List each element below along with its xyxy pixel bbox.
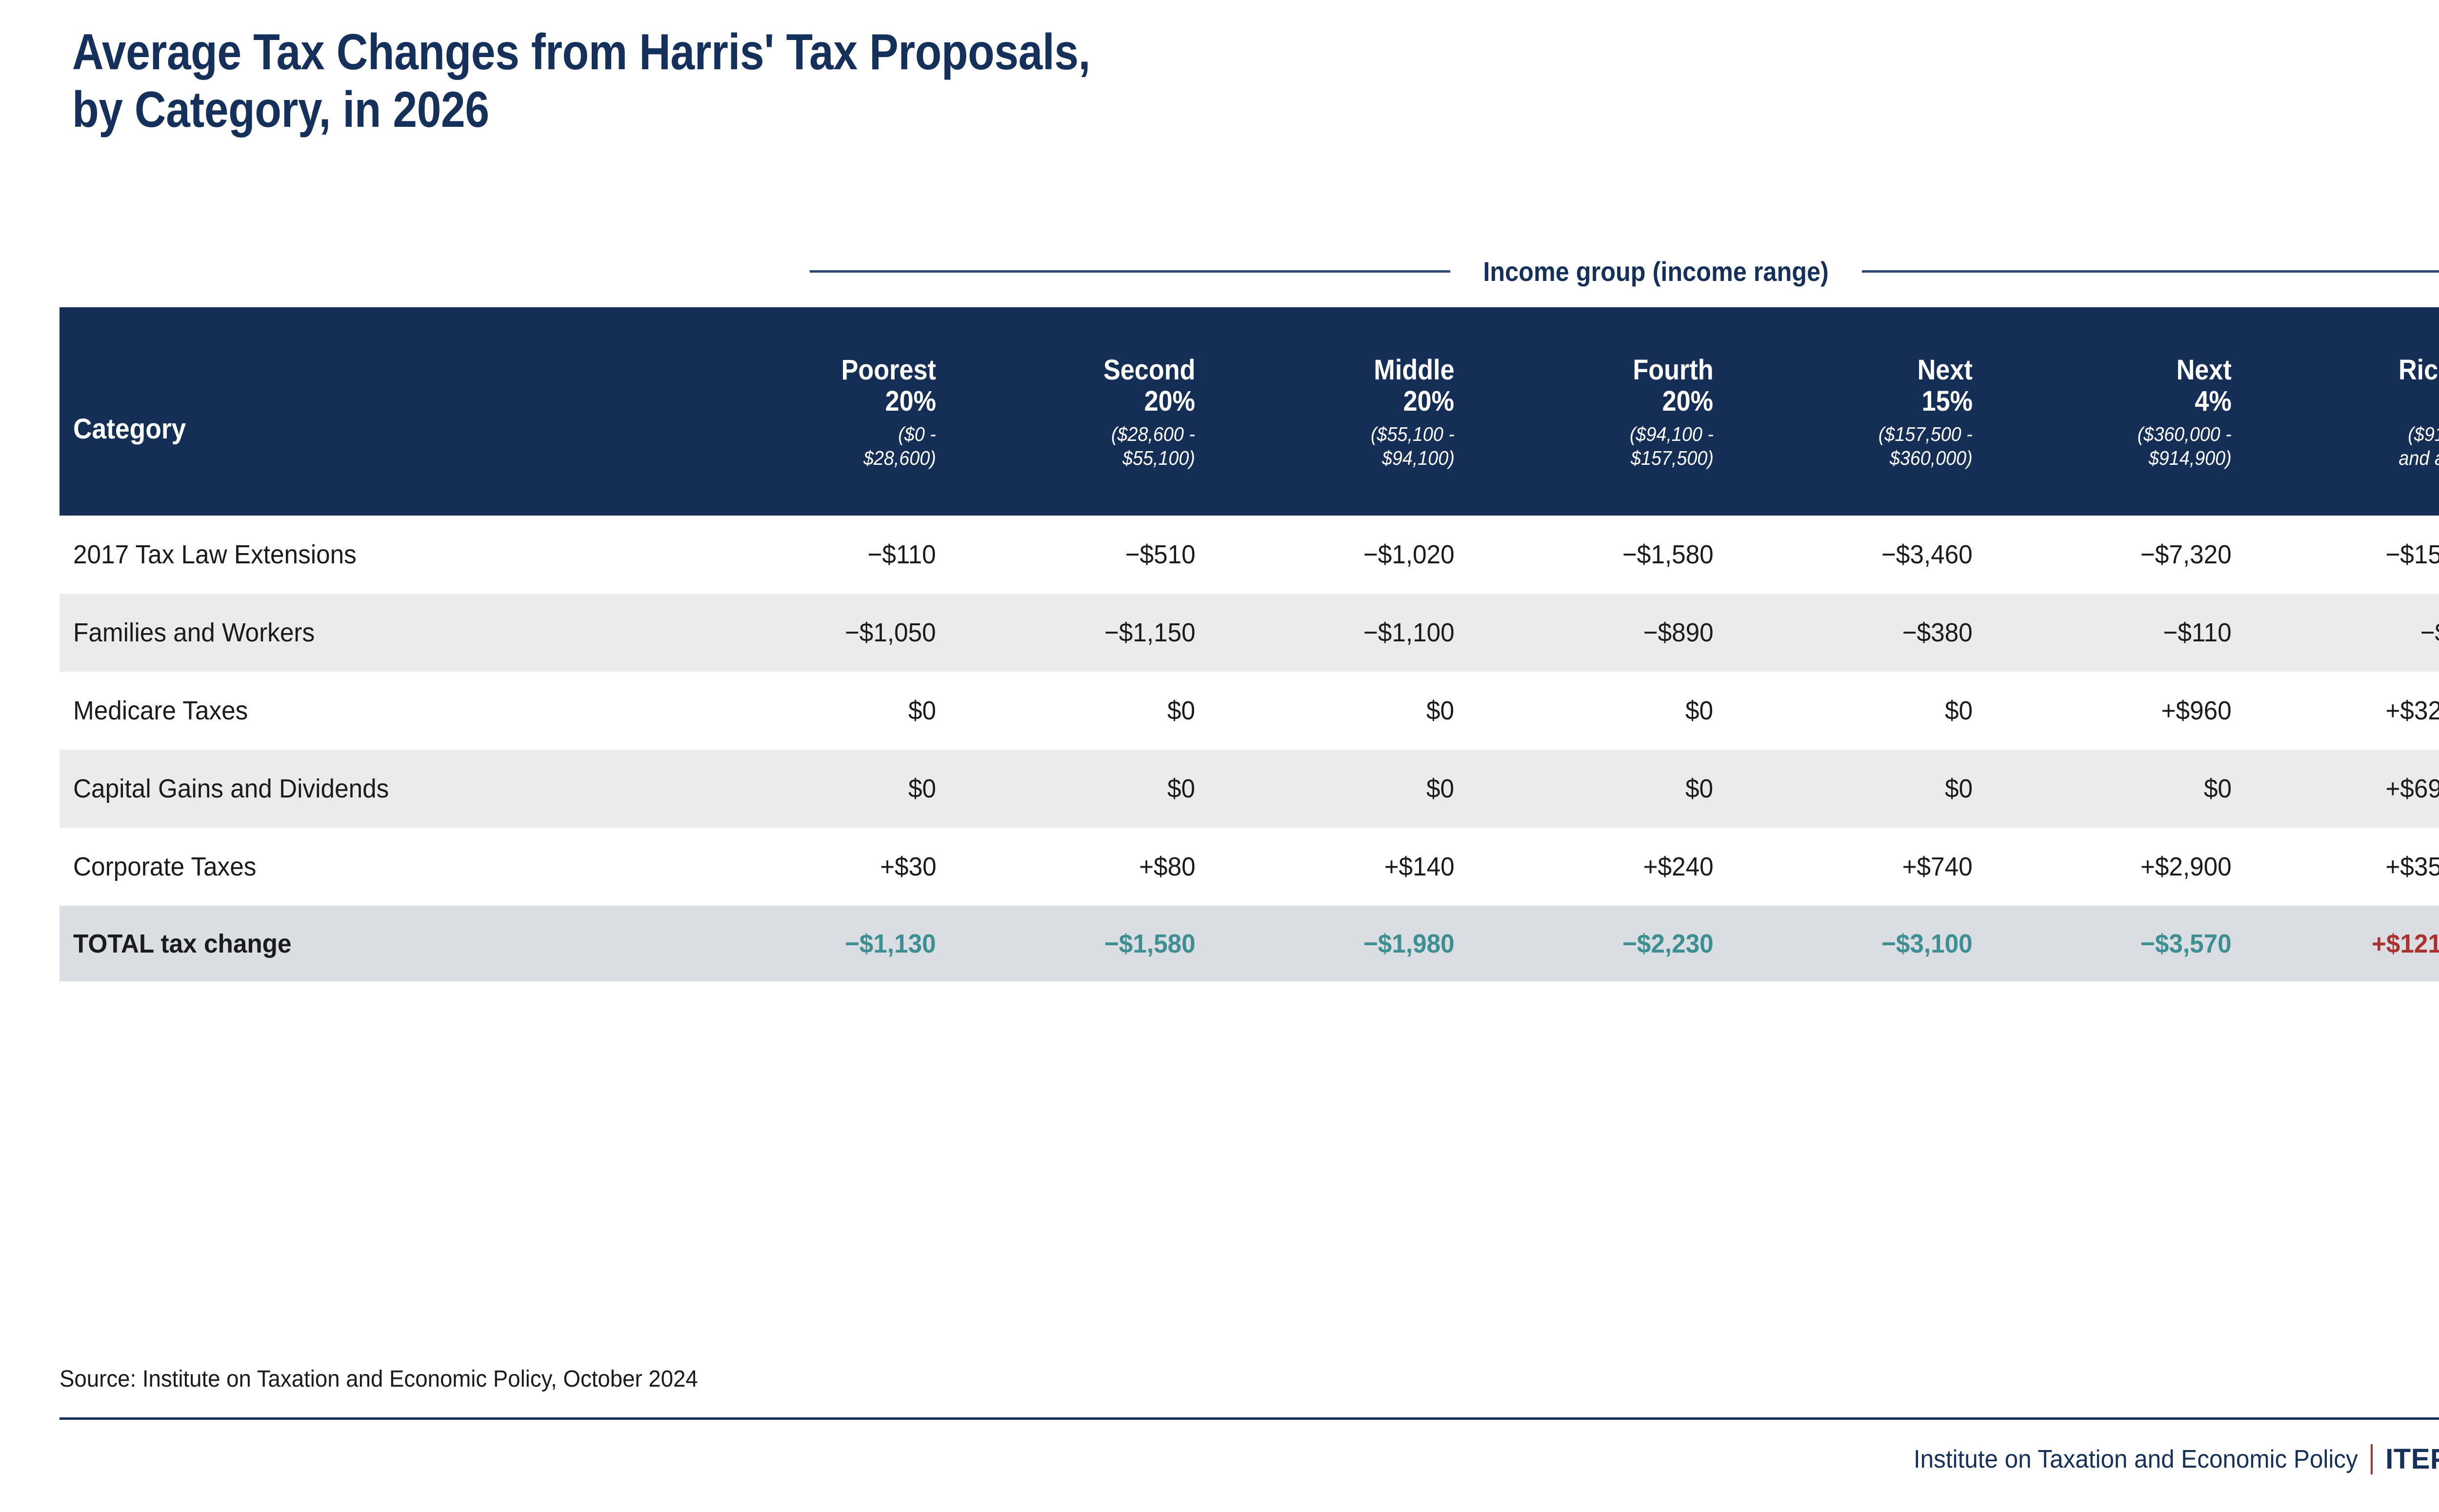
cell-value: +$35,200 xyxy=(2386,852,2439,882)
title-line-1: Average Tax Changes from Harris' Tax Pro… xyxy=(72,23,1918,81)
cell-value: $0 xyxy=(1685,774,1713,804)
column-header-percent: 20% xyxy=(1662,385,1713,418)
column-header-range: ($914,900 and above) xyxy=(2399,422,2439,470)
cell-value: −$110 xyxy=(868,539,936,570)
cell-value: +$30 xyxy=(880,852,937,882)
cell-value: −$1,100 xyxy=(1363,617,1455,648)
data-cell: +$30 xyxy=(689,852,948,882)
cell-value: −$15,520 xyxy=(2386,539,2439,570)
data-cell: −$890 xyxy=(1466,617,1725,648)
cell-value: $0 xyxy=(2204,774,2232,804)
cell-value: −$7,320 xyxy=(2140,539,2232,570)
total-cell-value: −$3,100 xyxy=(1881,929,1973,959)
column-header-name: Poorest xyxy=(841,355,936,385)
data-cell: $0 xyxy=(948,774,1207,804)
header-cell-next-4: Next 4% ($360,000 - $914,900) xyxy=(1984,307,2243,516)
data-cell: $0 xyxy=(1207,774,1466,804)
data-cell: $0 xyxy=(1725,774,1984,804)
data-cell: −$1,020 xyxy=(1207,539,1466,570)
income-group-caption-row: Income group (income range) xyxy=(810,252,2439,291)
data-cell: −$7,320 xyxy=(1984,539,2243,570)
total-row-label: TOTAL tax change xyxy=(73,929,292,959)
column-header-percent: 15% xyxy=(1921,385,1972,418)
data-cell: −$380 xyxy=(1725,617,1984,648)
total-row-label-cell: TOTAL tax change xyxy=(60,929,689,959)
tax-change-table: Category Poorest 20% ($0 - $28,600) Seco… xyxy=(60,307,2439,981)
row-label: Capital Gains and Dividends xyxy=(73,774,389,804)
column-header-range: ($94,100 - $157,500) xyxy=(1630,422,1714,470)
data-cell: +$35,200 xyxy=(2243,852,2439,882)
column-header-name: Fourth xyxy=(1633,355,1713,385)
column-header-range: ($28,600 - $55,100) xyxy=(1111,422,1195,470)
data-cell: −$510 xyxy=(948,539,1207,570)
total-cell-value: −$2,230 xyxy=(1622,929,1714,959)
header-cell-fourth-20: Fourth 20% ($94,100 - $157,500) xyxy=(1466,307,1725,516)
table-total-row: TOTAL tax change −$1,130 −$1,580 −$1,980… xyxy=(60,906,2439,981)
table-row: 2017 Tax Law Extensions −$110 −$510 −$1,… xyxy=(60,516,2439,594)
total-cell-value: −$1,130 xyxy=(845,929,936,959)
data-cell: −$15,520 xyxy=(2243,539,2439,570)
income-group-caption: Income group (income range) xyxy=(1483,256,1829,287)
data-cell: +$240 xyxy=(1466,852,1725,882)
cell-value: $0 xyxy=(1426,774,1454,804)
row-label-cell: Medicare Taxes xyxy=(60,696,689,726)
column-header-name: Middle xyxy=(1374,355,1454,385)
column-header-range: ($157,500 - $360,000) xyxy=(1879,422,1973,470)
total-data-cell: −$3,570 xyxy=(1984,929,2243,959)
data-cell: −$1,580 xyxy=(1466,539,1725,570)
infographic-table-page: Average Tax Changes from Harris' Tax Pro… xyxy=(0,0,2439,1512)
table-row: Corporate Taxes +$30 +$80 +$140 +$240 +$… xyxy=(60,828,2439,906)
table-row: Medicare Taxes $0 $0 $0 $0 $0 +$960 +$32… xyxy=(60,672,2439,750)
header-cell-middle-20: Middle 20% ($55,100 - $94,100) xyxy=(1207,307,1466,516)
table-header-row: Category Poorest 20% ($0 - $28,600) Seco… xyxy=(60,307,2439,516)
column-header-range: ($0 - $28,600) xyxy=(863,422,936,470)
data-cell: $0 xyxy=(689,774,948,804)
data-cell: −$1,100 xyxy=(1207,617,1466,648)
total-data-cell: −$3,100 xyxy=(1725,929,1984,959)
column-header-name: Richest xyxy=(2399,355,2439,385)
row-label: 2017 Tax Law Extensions xyxy=(73,539,357,570)
total-cell-value: −$1,980 xyxy=(1363,929,1455,959)
cell-value: $0 xyxy=(1167,696,1195,726)
row-label: Families and Workers xyxy=(73,617,315,648)
cell-value: −$890 xyxy=(1643,617,1713,648)
row-label: Corporate Taxes xyxy=(73,852,256,882)
caption-rule-left xyxy=(810,270,1450,273)
cell-value: −$3,460 xyxy=(1881,539,1973,570)
cell-value: $0 xyxy=(1945,696,1973,726)
data-cell: $0 xyxy=(1466,774,1725,804)
cell-value: +$240 xyxy=(1643,852,1713,882)
column-header-category: Category xyxy=(73,413,186,445)
data-cell: −$110 xyxy=(1984,617,2243,648)
cell-value: $0 xyxy=(908,774,936,804)
row-label-cell: 2017 Tax Law Extensions xyxy=(60,539,689,570)
data-cell: $0 xyxy=(689,696,948,726)
logo-divider xyxy=(2371,1444,2373,1474)
column-header-range: ($55,100 - $94,100) xyxy=(1370,422,1454,470)
cell-value: +$80 xyxy=(1139,852,1196,882)
total-data-cell: +$121,460 xyxy=(2243,929,2439,959)
page-title: Average Tax Changes from Harris' Tax Pro… xyxy=(72,23,2219,139)
cell-value: +$140 xyxy=(1384,852,1454,882)
source-note: Source: Institute on Taxation and Econom… xyxy=(60,1366,698,1393)
cell-value: $0 xyxy=(1426,696,1454,726)
row-label-cell: Corporate Taxes xyxy=(60,852,689,882)
total-data-cell: −$1,580 xyxy=(948,929,1207,959)
cell-value: +$2,900 xyxy=(2140,852,2232,882)
cell-value: $0 xyxy=(1945,774,1973,804)
column-header-percent: 20% xyxy=(1144,385,1195,418)
cell-value: −$1,050 xyxy=(845,617,936,648)
data-cell: −$1,050 xyxy=(689,617,948,648)
table-row: Capital Gains and Dividends $0 $0 $0 $0 … xyxy=(60,750,2439,828)
cell-value: −$1,580 xyxy=(1622,539,1714,570)
table-row: Families and Workers −$1,050 −$1,150 −$1… xyxy=(60,594,2439,672)
column-header-percent: 4% xyxy=(2195,385,2231,418)
data-cell: −$110 xyxy=(689,539,948,570)
column-header-range: ($360,000 - $914,900) xyxy=(2138,422,2232,470)
data-cell: −$910 xyxy=(2243,617,2439,648)
total-data-cell: −$1,130 xyxy=(689,929,948,959)
cell-value: +$69,740 xyxy=(2386,774,2439,804)
cell-value: $0 xyxy=(1685,696,1713,726)
data-cell: +$960 xyxy=(1984,696,2243,726)
column-header-percent: 20% xyxy=(1403,385,1454,418)
data-cell: +$80 xyxy=(948,852,1207,882)
total-data-cell: −$1,980 xyxy=(1207,929,1466,959)
data-cell: $0 xyxy=(1207,696,1466,726)
cell-value: +$740 xyxy=(1902,852,1973,882)
header-cell-poorest-20: Poorest 20% ($0 - $28,600) xyxy=(689,307,948,516)
column-header-name: Next xyxy=(2177,355,2232,385)
cell-value: −$910 xyxy=(2420,617,2439,648)
title-line-2: by Category, in 2026 xyxy=(72,81,1918,139)
row-label-cell: Capital Gains and Dividends xyxy=(60,774,689,804)
data-cell: $0 xyxy=(1725,696,1984,726)
total-cell-value: +$121,460 xyxy=(2372,929,2439,959)
column-header-name: Next xyxy=(1918,355,1973,385)
row-label: Medicare Taxes xyxy=(73,696,248,726)
data-cell: +$140 xyxy=(1207,852,1466,882)
row-label-cell: Families and Workers xyxy=(60,617,689,648)
data-cell: $0 xyxy=(1984,774,2243,804)
itep-logo: Institute on Taxation and Economic Polic… xyxy=(1890,1443,2439,1475)
data-cell: $0 xyxy=(1466,696,1725,726)
data-cell: +$740 xyxy=(1725,852,1984,882)
cell-value: $0 xyxy=(1167,774,1195,804)
cell-value: +$960 xyxy=(2161,696,2232,726)
data-cell: −$1,150 xyxy=(948,617,1207,648)
logo-wordmark: ITEP xyxy=(2385,1443,2439,1475)
caption-rule-right xyxy=(1862,270,2439,273)
logo-org-name: Institute on Taxation and Economic Polic… xyxy=(1914,1445,2358,1474)
data-cell: +$69,740 xyxy=(2243,774,2439,804)
cell-value: −$1,150 xyxy=(1104,617,1195,648)
data-cell: +$2,900 xyxy=(1984,852,2243,882)
column-header-name: Second xyxy=(1103,355,1196,385)
total-data-cell: −$2,230 xyxy=(1466,929,1725,959)
cell-value: $0 xyxy=(908,696,936,726)
data-cell: $0 xyxy=(948,696,1207,726)
header-cell-category: Category xyxy=(60,307,689,516)
header-cell-next-15: Next 15% ($157,500 - $360,000) xyxy=(1725,307,1984,516)
header-cell-richest-1: Richest 1% ($914,900 and above) xyxy=(2243,307,2439,516)
column-header-percent: 20% xyxy=(885,385,936,418)
cell-value: −$510 xyxy=(1125,539,1195,570)
data-cell: −$3,460 xyxy=(1725,539,1984,570)
cell-value: −$1,020 xyxy=(1363,539,1455,570)
total-cell-value: −$3,570 xyxy=(2140,929,2232,959)
cell-value: −$110 xyxy=(2163,617,2232,648)
data-cell: +$32,950 xyxy=(2243,696,2439,726)
footer-divider xyxy=(60,1417,2439,1420)
cell-value: +$32,950 xyxy=(2386,696,2439,726)
cell-value: −$380 xyxy=(1902,617,1973,648)
header-cell-second-20: Second 20% ($28,600 - $55,100) xyxy=(948,307,1207,516)
total-cell-value: −$1,580 xyxy=(1104,929,1195,959)
